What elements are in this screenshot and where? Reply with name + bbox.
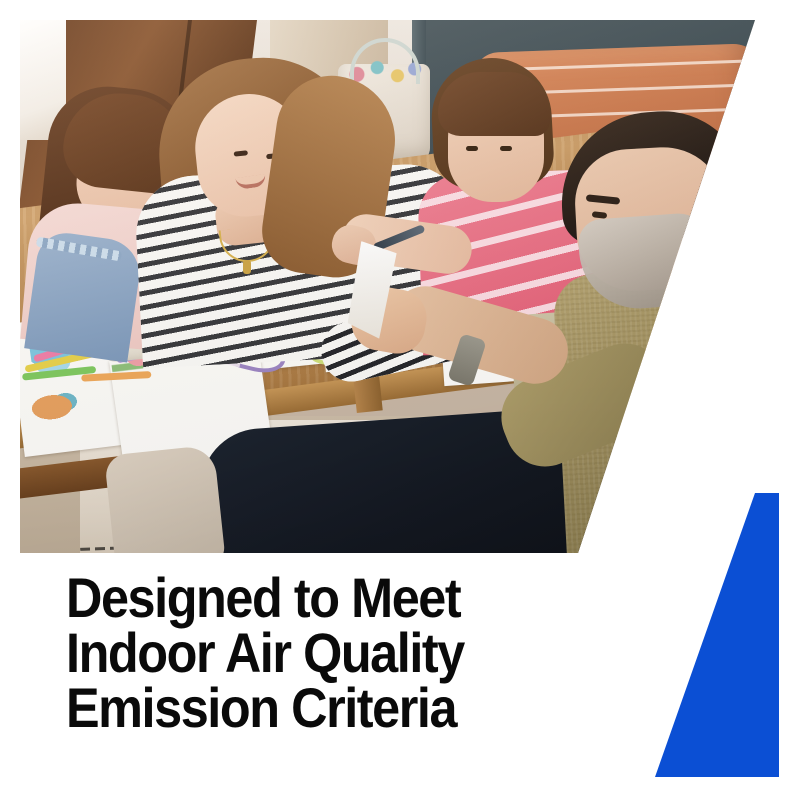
page-title: Designed to Meet Indoor Air Quality Emis… [66,570,570,735]
poster-canvas: Designed to Meet Indoor Air Quality Emis… [0,0,800,800]
photo-scene [20,20,755,553]
man-ear [692,200,728,246]
hero-photo [20,20,755,553]
blue-accent-shape [655,493,779,777]
necklace-pendant [243,260,251,274]
boy-fringe [438,72,550,136]
man-sock [104,445,226,553]
headline-line-1: Designed to Meet [66,570,570,625]
headline-line-2: Indoor Air Quality [66,625,570,680]
headline-line-3: Emission Criteria [66,680,570,735]
